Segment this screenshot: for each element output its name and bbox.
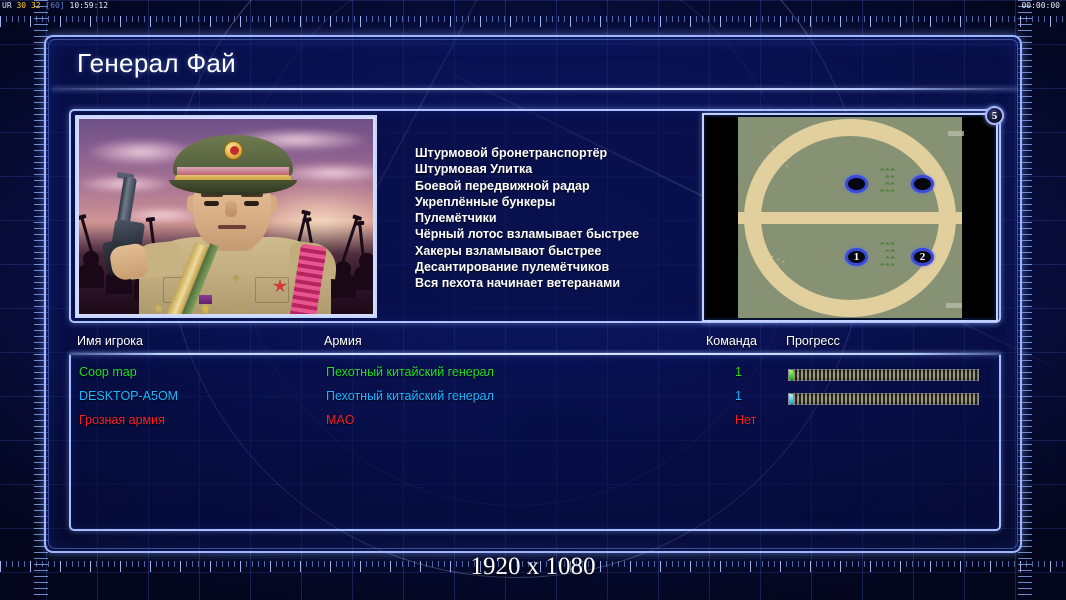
loading-screen-panel: Генерал Фай	[44, 35, 1022, 553]
progress-bar	[788, 369, 979, 381]
general-eye-right	[244, 201, 259, 206]
soldier-head	[83, 251, 99, 267]
fps-value-1: 30	[16, 1, 26, 10]
map-player-count-badge: 5	[985, 106, 1004, 125]
general-info-box: Штурмовой бронетранспортёр Штурмовая Ули…	[69, 109, 1001, 323]
uniform-button	[237, 303, 243, 309]
player-table-header: Имя игрока Армия Команда Прогресс	[69, 334, 1001, 354]
uniform-button	[233, 275, 239, 281]
map-start-position[interactable]	[845, 175, 868, 193]
fps-prefix: UR	[2, 1, 12, 10]
column-header-team: Команда	[706, 334, 757, 348]
general-portrait	[75, 115, 377, 318]
fps-value-2: 32	[31, 1, 41, 10]
map-structure	[946, 303, 962, 308]
minimap-preview: 5 ^ ^ ^ ^ ^ ^ ^ ^ ^ ^ ^ ^ ^ ^ ^ ^ ^ ^ ^^…	[702, 113, 998, 322]
portrait-artwork	[77, 117, 375, 316]
player-table-body: Coop map Пехотный китайский генерал 1 DE…	[69, 355, 1001, 531]
ability-item: Штурмовая Улитка	[415, 161, 715, 177]
table-row: Грозная армия MAO Нет	[71, 409, 999, 433]
fps-readout: UR 30 32 [60] 10:59:12	[2, 0, 108, 12]
general-mouth	[218, 225, 246, 229]
ability-item: Укреплённые бункеры	[415, 194, 715, 210]
soldier-head	[359, 253, 375, 269]
map-tree-cluster: ^^^ ^^ ^^ ^^^	[880, 169, 896, 197]
player-army: Пехотный китайский генерал	[326, 365, 494, 379]
player-name: Грозная армия	[79, 413, 165, 427]
resolution-overlay: 1920 x 1080	[0, 553, 1066, 581]
general-nose	[225, 201, 237, 217]
player-name: DESKTOP-A5OM	[79, 389, 178, 403]
map-start-position[interactable]: 1	[845, 248, 868, 266]
title-divider	[52, 88, 1018, 90]
player-name: Coop map	[79, 365, 137, 379]
map-center-road	[738, 212, 962, 224]
column-header-army: Армия	[324, 334, 362, 348]
player-team: Нет	[735, 413, 756, 427]
ability-item: Чёрный лотос взламывает быстрее	[415, 226, 715, 242]
ability-item: Пулемётчики	[415, 210, 715, 226]
table-row: Coop map Пехотный китайский генерал 1	[71, 361, 999, 385]
map-structure	[948, 131, 964, 136]
column-header-progress: Прогресс	[786, 334, 840, 348]
cap-insignia-icon	[224, 141, 243, 160]
player-army: Пехотный китайский генерал	[326, 389, 494, 403]
ability-item: Хакеры взламывают быстрее	[415, 243, 715, 259]
map-terrain: ^ ^ ^ ^ ^ ^ ^ ^ ^ ^ ^ ^ ^ ^ ^ ^ ^ ^ ^^^ …	[738, 117, 962, 318]
general-eye-left	[204, 201, 219, 206]
title-row: Генерал Фай	[46, 37, 1020, 89]
status-bar: UR 30 32 [60] 10:59:12 00:00:00	[0, 0, 1066, 12]
ability-item: Боевой передвижной радар	[415, 178, 715, 194]
table-row: DESKTOP-A5OM Пехотный китайский генерал …	[71, 385, 999, 409]
uniform-pocket	[255, 277, 289, 303]
fps-clock: 10:59:12	[70, 1, 109, 10]
page-title: Генерал Фай	[77, 48, 236, 79]
minimap-canvas: ^ ^ ^ ^ ^ ^ ^ ^ ^ ^ ^ ^ ^ ^ ^ ^ ^ ^ ^^^ …	[706, 117, 994, 318]
progress-bar	[788, 393, 979, 405]
map-start-position[interactable]	[911, 175, 934, 193]
soldier-head	[335, 261, 351, 277]
ability-item: Штурмовой бронетранспортёр	[415, 145, 715, 161]
map-start-position[interactable]: 2	[911, 248, 934, 266]
player-army: MAO	[326, 413, 354, 427]
player-team: 1	[735, 389, 742, 403]
fps-bracket: [60]	[45, 1, 64, 10]
match-timer: 00:00:00	[1021, 0, 1060, 12]
column-header-name: Имя игрока	[77, 334, 143, 348]
player-team: 1	[735, 365, 742, 379]
ability-item: Десантирование пулемётчиков	[415, 259, 715, 275]
ability-item: Вся пехота начинает ветеранами	[415, 275, 715, 291]
general-abilities-list: Штурмовой бронетранспортёр Штурмовая Ули…	[415, 145, 715, 292]
medal-ribbon-icon	[199, 295, 212, 304]
map-tree-cluster: ^^^ ^^ ^^ ^^^	[880, 243, 896, 271]
